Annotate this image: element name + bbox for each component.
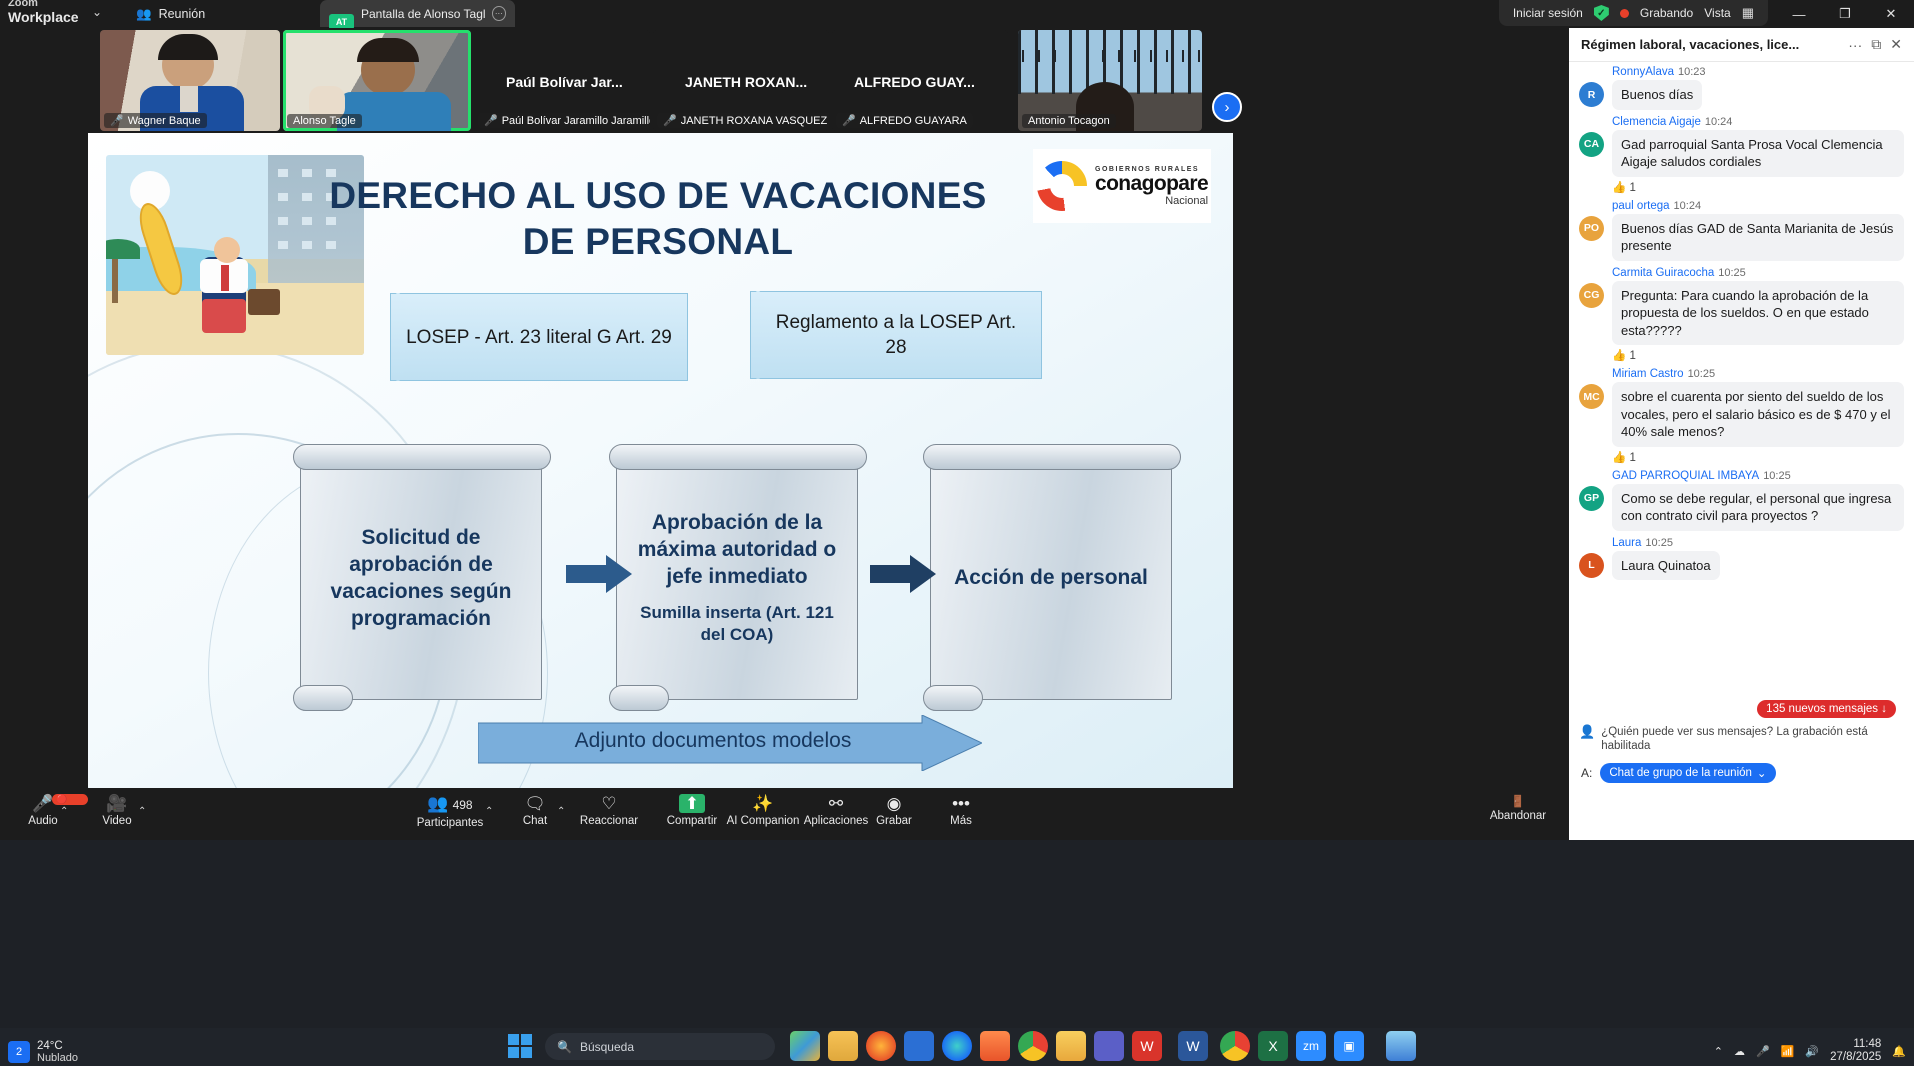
chat-author: Miriam Castro (1612, 368, 1684, 380)
recording-dot-icon (1620, 9, 1629, 18)
mic-off-icon: 🎤 (842, 114, 856, 127)
people-icon: 👥 (136, 7, 152, 22)
chat-privacy-text: ¿Quién puede ver sus mensajes? La grabac… (1601, 725, 1902, 753)
microphone-icon: 🎤 (32, 794, 53, 813)
sparkle-icon: ✨ (752, 794, 773, 813)
participants-count: 498 (453, 798, 473, 812)
taskbar-icon-excel[interactable]: X (1258, 1031, 1288, 1061)
video-tile-name: 🎤 Wagner Baque (104, 113, 207, 128)
taskbar-icon-store[interactable] (904, 1031, 934, 1061)
record-icon: ◉ (887, 794, 902, 813)
video-tile-display-name: JANETH ROXAN... (685, 74, 807, 90)
toolbar-label: Compartir (667, 815, 717, 827)
toolbar-label: Más (950, 815, 972, 827)
chevron-up-icon[interactable]: ⌃ (1714, 1045, 1723, 1058)
chat-time: 10:25 (1688, 368, 1716, 380)
popout-icon[interactable]: ⧉ (1871, 36, 1881, 53)
scroll-top-curl (923, 444, 1181, 470)
video-tile[interactable]: 🎤 Wagner Baque (100, 30, 280, 131)
avatar: MC (1579, 384, 1604, 409)
notification-icon[interactable]: 🔔 (1892, 1045, 1906, 1058)
process-step-title: Solicitud de aprobación de vacaciones se… (315, 524, 527, 632)
chat-message: CG Carmita Guiracocha10:25 Pregunta: Par… (1579, 267, 1904, 363)
new-messages-button[interactable]: 135 nuevos mensajes ↓ (1757, 700, 1896, 718)
chat-reaction[interactable]: 👍 1 (1612, 348, 1904, 362)
process-step-title: Aprobación de la máxima autoridad o jefe… (631, 509, 843, 590)
toolbar-button-more[interactable]: ••• Más (926, 794, 996, 838)
toolbar-label: Chat (523, 815, 547, 827)
logo-sub: Nacional (1095, 195, 1208, 207)
taskbar-icon-chrome-2[interactable] (1220, 1031, 1250, 1061)
taskbar-icon-teams[interactable] (1094, 1031, 1124, 1061)
chat-message: CA Clemencia Aigaje10:24 Gad parroquial … (1579, 116, 1904, 194)
toolbar-label: Grabar (876, 815, 912, 827)
conagopare-logo: GOBIERNOS RURALES conagopare Nacional (1033, 149, 1211, 223)
chat-message-list[interactable]: R RonnyAlava10:23 Buenos días CA Clemenc… (1569, 62, 1914, 722)
reaction-icon: ♡ (601, 794, 616, 813)
chevron-up-icon[interactable]: ⌃ (557, 806, 565, 817)
person-tie (221, 265, 229, 291)
chat-message: PO paul ortega10:24 Buenos días GAD de S… (1579, 200, 1904, 261)
taskbar-icon-music[interactable] (980, 1031, 1010, 1061)
search-input[interactable]: 🔍 Búsqueda (545, 1033, 775, 1060)
chat-text: Como se debe regular, el personal que in… (1612, 484, 1904, 531)
process-step: Aprobación de la máxima autoridad o jefe… (616, 455, 858, 700)
weather-temp: 24°C (37, 1040, 63, 1052)
video-tile-name: 🎤 Paúl Bolívar Jaramillo Jaramillo (478, 113, 650, 128)
chat-time: 10:25 (1763, 470, 1791, 482)
scroll-bottom-curl (609, 685, 669, 711)
chat-text: sobre el cuarenta por siento del sueldo … (1612, 382, 1904, 447)
apps-icon: ⚯ (829, 794, 843, 813)
chat-icon: 🗨 (524, 794, 546, 813)
weather-desc: Nublado (37, 1052, 78, 1064)
chat-to-label: A: (1581, 766, 1592, 780)
leave-meeting-button[interactable]: 🚪 Abandonar (1481, 794, 1555, 838)
chat-panel-bottom-fill (1569, 788, 1914, 840)
taskbar-icon-chrome[interactable] (1018, 1031, 1048, 1061)
footer-arrow-label: Adjunto documentos modelos (478, 729, 948, 753)
titlebar-right-group: Iniciar sesión Grabando Vista ▦ (1499, 0, 1768, 26)
chat-time: 10:24 (1674, 200, 1702, 212)
chat-author: Clemencia Aigaje (1612, 116, 1701, 128)
arrow-right-icon (870, 553, 936, 595)
taskbar-icon-explorer[interactable] (828, 1031, 858, 1061)
camera-icon: 🎥 (106, 794, 127, 813)
video-tile-name: Antonio Tocagon (1022, 114, 1116, 128)
law-banner: LOSEP - Art. 23 literal G Art. 29 (390, 293, 688, 381)
share-icon: ⬆ (679, 794, 705, 813)
logo-arc-icon (1037, 161, 1087, 211)
shield-icon (1594, 5, 1609, 21)
avatar: R (1579, 82, 1604, 107)
arrow-right-icon (566, 553, 632, 595)
more-icon[interactable]: ··· (1848, 37, 1862, 53)
view-button[interactable]: Vista (1704, 6, 1730, 20)
chat-author: Laura (1612, 537, 1641, 549)
chat-time: 10:24 (1705, 116, 1733, 128)
chat-message: MC Miriam Castro10:25 sobre el cuarenta … (1579, 368, 1904, 464)
chat-recipient-dropdown[interactable]: Chat de grupo de la reunión ⌄ (1600, 763, 1775, 783)
person-head (214, 237, 240, 263)
toolbar-button-participants[interactable]: 👥498 Participantes (410, 794, 490, 838)
zoom-brand: Zoom Workplace (8, 0, 79, 24)
chat-author: RonnyAlava (1612, 66, 1674, 78)
taskbar-icon-edge[interactable] (942, 1031, 972, 1061)
taskbar-icon-files[interactable] (1056, 1031, 1086, 1061)
screen-share-tab-label: Pantalla de Alonso Tagle (361, 7, 485, 21)
mic-off-icon: 🎤 (663, 114, 677, 127)
video-strip: 🎤 Wagner Baque Alonso Tagle Paúl Bolívar… (0, 28, 1569, 133)
chat-text: Laura Quinatoa (1612, 551, 1720, 581)
minimize-button[interactable]: — (1776, 0, 1822, 28)
video-tile-name: 🎤 JANETH ROXANA VASQUEZ MEJ... (657, 113, 829, 128)
maximize-button[interactable]: ❐ (1822, 0, 1868, 28)
chat-time: 10:25 (1645, 537, 1673, 549)
palm-leaves (106, 239, 140, 259)
logo-name: conagopare (1095, 173, 1208, 195)
video-tile[interactable]: Paúl Bolívar Jar... 🎤 Paúl Bolívar Jaram… (474, 30, 650, 131)
chevron-down-icon: ⌄ (1757, 766, 1767, 780)
search-icon: 🔍 (557, 1040, 572, 1054)
meeting-toolbar: 🎤 Audio 🔴 ⌃ 🎥 Video ⌃ 👥498 Participantes… (0, 788, 1569, 840)
more-icon[interactable]: ··· (492, 6, 506, 21)
microphone-icon[interactable]: 🎤 (1756, 1045, 1770, 1058)
toolbar-label: Reaccionar (580, 815, 638, 827)
chat-message: GP GAD PARROQUIAL IMBAYA10:25 Como se de… (1579, 470, 1904, 531)
person-icon: 👤 (1579, 725, 1595, 739)
windows-taskbar: 2 24°C Nublado 🔍 Búsqueda W W X zm ▣ ⌃ ☁… (0, 840, 1914, 1066)
scroll-top-curl (293, 444, 551, 470)
clock[interactable]: 11:48 27/8/2025 (1830, 1038, 1881, 1064)
chat-author: GAD PARROQUIAL IMBAYA (1612, 470, 1759, 482)
brand-line-2: Workplace (8, 10, 79, 24)
video-tile-name: 🎤 ALFREDO GUAYARA (836, 113, 973, 128)
chat-reaction[interactable]: 👍 1 (1612, 450, 1904, 464)
toolbar-label: Abandonar (1490, 810, 1546, 822)
wifi-icon[interactable]: 📶 (1781, 1045, 1795, 1058)
chat-message: R RonnyAlava10:23 Buenos días (1579, 66, 1904, 110)
taskbar-icon-photos[interactable] (1386, 1031, 1416, 1061)
chat-text: Gad parroquial Santa Prosa Vocal Clemenc… (1612, 130, 1904, 177)
chevron-up-icon[interactable]: ⌃ (485, 806, 493, 817)
chat-text: Pregunta: Para cuando la aprobación de l… (1612, 281, 1904, 346)
chat-header: Régimen laboral, vacaciones, lice... ···… (1569, 28, 1914, 62)
meeting-tab-label: Reunión (159, 7, 206, 21)
chat-time: 10:23 (1678, 66, 1706, 78)
windows-icon[interactable] (508, 1034, 532, 1058)
chat-message: L Laura10:25 Laura Quinatoa (1579, 537, 1904, 581)
video-tile[interactable]: Antonio Tocagon (1018, 30, 1202, 131)
chat-privacy-note: 👤 ¿Quién puede ver sus mensajes? La grab… (1569, 722, 1914, 756)
clock-time: 11:48 (1853, 1038, 1881, 1050)
video-tile[interactable]: JANETH ROXAN... 🎤 JANETH ROXANA VASQUEZ … (653, 30, 829, 131)
process-step: Solicitud de aprobación de vacaciones se… (300, 455, 542, 700)
video-tile-name: Alonso Tagle (287, 114, 362, 128)
avatar: PO (1579, 216, 1604, 241)
mic-off-icon: 🎤 (110, 114, 124, 127)
slide-title: DERECHO AL USO DE VACACIONES DE PERSONAL (303, 173, 1013, 265)
sign-in-button[interactable]: Iniciar sesión (1513, 6, 1583, 20)
onedrive-icon[interactable]: ☁ (1734, 1045, 1745, 1058)
title-bar: Zoom Workplace ⌄ 👥 Reunión AT Pantalla d… (0, 0, 1914, 28)
participants-icon: 👥498 (427, 794, 472, 815)
toolbar-label: Audio (28, 815, 57, 827)
scroll-top-curl (609, 444, 867, 470)
grid-view-icon[interactable]: ▦ (1742, 5, 1754, 21)
chat-reaction[interactable]: 👍 1 (1612, 180, 1904, 194)
chat-recipient-row: A: Chat de grupo de la reunión ⌄ (1569, 758, 1914, 788)
scroll-bottom-curl (293, 685, 353, 711)
video-tile[interactable]: Alonso Tagle (283, 30, 471, 131)
close-button[interactable]: ✕ (1868, 0, 1914, 28)
video-tile[interactable]: ALFREDO GUAY... 🎤 ALFREDO GUAYARA (832, 30, 1008, 131)
chat-author: paul ortega (1612, 200, 1670, 212)
toolbar-label: Video (102, 815, 131, 827)
taskbar-icon-wps[interactable]: W (1132, 1031, 1162, 1061)
scroll-bottom-curl (923, 685, 983, 711)
chat-recipient-value: Chat de grupo de la reunión (1609, 767, 1752, 779)
chat-text: Buenos días GAD de Santa Marianita de Je… (1612, 214, 1904, 261)
recording-label: Grabando (1640, 6, 1693, 20)
video-tile-display-name: ALFREDO GUAY... (854, 74, 975, 90)
avatar: CA (1579, 132, 1604, 157)
mic-off-icon: 🎤 (484, 114, 498, 127)
weather-badge: 2 (8, 1041, 30, 1063)
toolbar-button-react[interactable]: ♡ Reaccionar (570, 794, 648, 838)
chevron-up-icon[interactable]: ⌃ (60, 806, 68, 817)
process-step-subtitle: Sumilla inserta (Art. 121 del COA) (631, 602, 843, 646)
taskbar-icon-firefox[interactable] (866, 1031, 896, 1061)
chat-title: Régimen laboral, vacaciones, lice... (1581, 37, 1839, 52)
volume-icon[interactable]: 🔊 (1805, 1045, 1819, 1058)
taskbar-icon-zoom[interactable]: zm (1296, 1031, 1326, 1061)
video-tile-display-name: Paúl Bolívar Jar... (506, 74, 623, 90)
taskbar-icon-zoom-2[interactable]: ▣ (1334, 1031, 1364, 1061)
video-strip-next-button[interactable]: › (1212, 92, 1242, 122)
window-controls: — ❐ ✕ (1776, 0, 1914, 28)
toolbar-label: Participantes (417, 817, 483, 829)
law-banner: Reglamento a la LOSEP Art. 28 (750, 291, 1042, 379)
leave-icon: 🚪 (1511, 794, 1525, 808)
clock-date: 27/8/2025 (1830, 1051, 1881, 1063)
toolbar-button-record[interactable]: ◉ Grabar (858, 794, 930, 838)
chat-panel: Régimen laboral, vacaciones, lice... ···… (1569, 28, 1914, 788)
taskbar-icon-word[interactable]: W (1178, 1031, 1208, 1061)
avatar: L (1579, 553, 1604, 578)
avatar: GP (1579, 486, 1604, 511)
screen-share-tab[interactable]: AT Pantalla de Alonso Tagle ··· (320, 0, 515, 27)
process-step-title: Acción de personal (954, 564, 1148, 591)
weather-widget[interactable]: 2 24°C Nublado (8, 1040, 78, 1064)
meeting-tab[interactable]: 👥 Reunión (128, 2, 213, 26)
presentation-slide: GOBIERNOS RURALES conagopare Nacional DE… (88, 133, 1233, 788)
toolbar-label: AI Companion (727, 815, 800, 827)
chat-text: Buenos días (1612, 80, 1702, 110)
chat-time: 10:25 (1718, 267, 1746, 279)
shared-screen-stage: GOBIERNOS RURALES conagopare Nacional DE… (0, 133, 1569, 788)
avatar: CG (1579, 283, 1604, 308)
chevron-down-icon[interactable]: ⌄ (92, 5, 102, 19)
system-tray: ⌃ ☁ 🎤 📶 🔊 11:48 27/8/2025 🔔 (1714, 1038, 1906, 1064)
close-icon[interactable]: ✕ (1890, 36, 1902, 53)
briefcase-icon (248, 289, 280, 315)
search-placeholder: Búsqueda (580, 1040, 634, 1054)
process-step: Acción de personal (930, 455, 1172, 700)
person-shorts (202, 299, 246, 333)
chevron-up-icon[interactable]: ⌃ (138, 806, 146, 817)
more-icon: ••• (952, 794, 970, 813)
chat-author: Carmita Guiracocha (1612, 267, 1714, 279)
taskbar-icon-widgets[interactable] (790, 1031, 820, 1061)
